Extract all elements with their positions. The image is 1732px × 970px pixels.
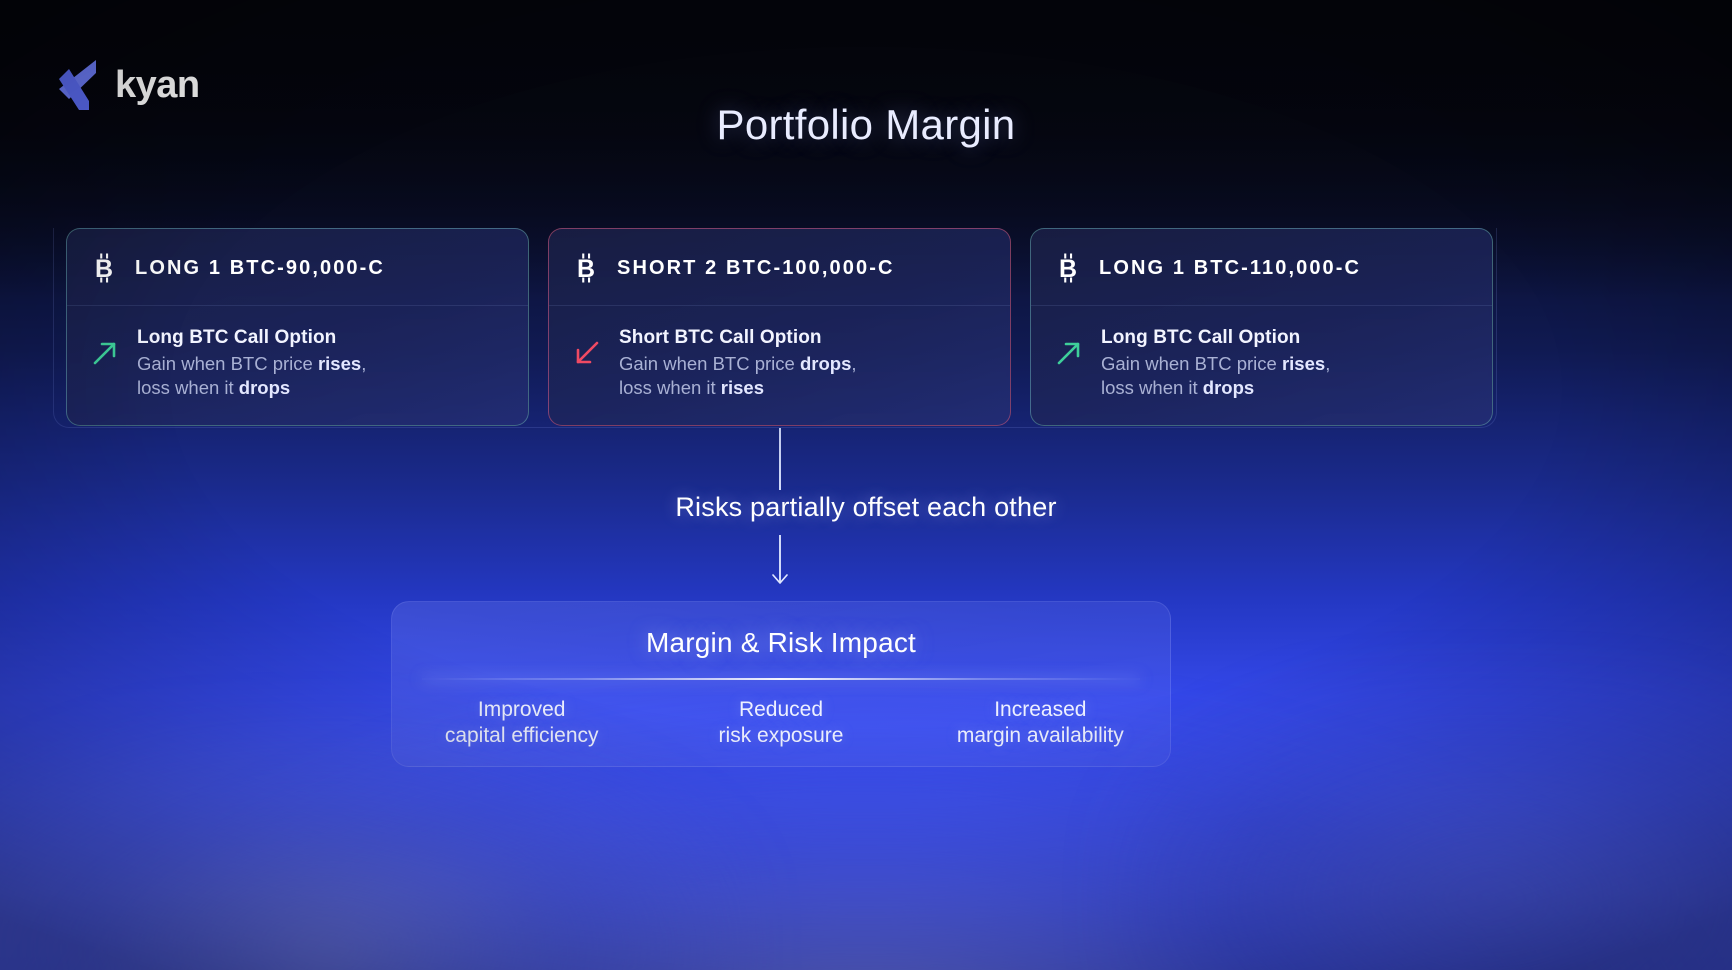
desc-line1-strong: drops [800,353,851,374]
position-card-long-110000[interactable]: B LONG 1 BTC-110,000-C Long BTC Call Opt… [1030,228,1493,426]
desc-line1-prefix: Gain when BTC price [137,353,318,374]
desc-line1-suffix: , [851,353,856,374]
bitcoin-icon: B [573,253,599,283]
svg-text:B: B [577,255,595,283]
desc-line1-prefix: Gain when BTC price [1101,353,1282,374]
position-subtitle: Short BTC Call Option [619,327,857,349]
position-card-body: Short BTC Call Option Gain when BTC pric… [549,306,1010,425]
desc-line1-strong: rises [318,353,361,374]
position-card-header: B LONG 1 BTC-110,000-C [1031,229,1492,306]
impact-item-line1: Improved [478,698,566,721]
positions-row: B LONG 1 BTC-90,000-C Long BTC Call Opti… [66,228,1496,426]
desc-line1-strong: rises [1282,353,1325,374]
position-label: LONG 1 BTC-90,000-C [135,257,385,280]
offset-caption: Risks partially offset each other [0,492,1732,523]
desc-line2-prefix: loss when it [1101,377,1203,398]
svg-text:B: B [95,255,113,283]
arrow-up-right-icon [1055,339,1083,367]
arrow-down-left-icon [573,339,601,367]
impact-item-margin-availability: Increased margin availability [911,697,1170,750]
position-subtitle: Long BTC Call Option [137,327,366,349]
impact-items: Improved capital efficiency Reduced risk… [392,697,1170,750]
impact-item-line1: Reduced [739,698,823,721]
impact-item-line2: capital efficiency [445,724,599,747]
position-card-body: Long BTC Call Option Gain when BTC price… [1031,306,1492,425]
impact-item-line2: margin availability [957,724,1124,747]
desc-line2-strong: drops [1203,377,1254,398]
background-glow-right [1111,679,1732,970]
arrow-up-right-icon [91,339,119,367]
position-label: SHORT 2 BTC-100,000-C [617,257,895,280]
desc-line1-suffix: , [1325,353,1330,374]
position-card-header: B LONG 1 BTC-90,000-C [67,229,528,306]
impact-divider [422,678,1140,680]
desc-line2-prefix: loss when it [137,377,239,398]
position-subtitle: Long BTC Call Option [1101,327,1330,349]
impact-item-line1: Increased [994,698,1086,721]
desc-line1-prefix: Gain when BTC price [619,353,800,374]
arrow-down-icon [769,570,791,586]
desc-line2-strong: rises [721,377,764,398]
position-label: LONG 1 BTC-110,000-C [1099,257,1361,280]
position-card-header: B SHORT 2 BTC-100,000-C [549,229,1010,306]
desc-line2-prefix: loss when it [619,377,721,398]
bitcoin-icon: B [91,253,117,283]
svg-text:B: B [1059,255,1077,283]
position-card-body: Long BTC Call Option Gain when BTC price… [67,306,528,425]
bitcoin-icon: B [1055,253,1081,283]
connector-line-upper [779,428,781,490]
impact-title: Margin & Risk Impact [392,627,1170,659]
impact-panel: Margin & Risk Impact Improved capital ef… [391,601,1171,767]
brand-name: kyan [115,66,200,104]
slide-canvas: kyan Portfolio Margin B LONG 1 BTC-90,00… [0,0,1732,970]
desc-line2-strong: drops [239,377,290,398]
position-card-long-90000[interactable]: B LONG 1 BTC-90,000-C Long BTC Call Opti… [66,228,529,426]
desc-line1-suffix: , [361,353,366,374]
position-card-short-100000[interactable]: B SHORT 2 BTC-100,000-C Short BTC Call O… [548,228,1011,426]
position-description: Gain when BTC price rises, loss when it … [1101,352,1330,401]
page-title: Portfolio Margin [0,101,1732,149]
impact-item-risk-exposure: Reduced risk exposure [651,697,910,750]
position-description: Gain when BTC price drops, loss when it … [619,352,857,401]
impact-item-capital-efficiency: Improved capital efficiency [392,697,651,750]
position-description: Gain when BTC price rises, loss when it … [137,352,366,401]
impact-item-line2: risk exposure [719,724,844,747]
